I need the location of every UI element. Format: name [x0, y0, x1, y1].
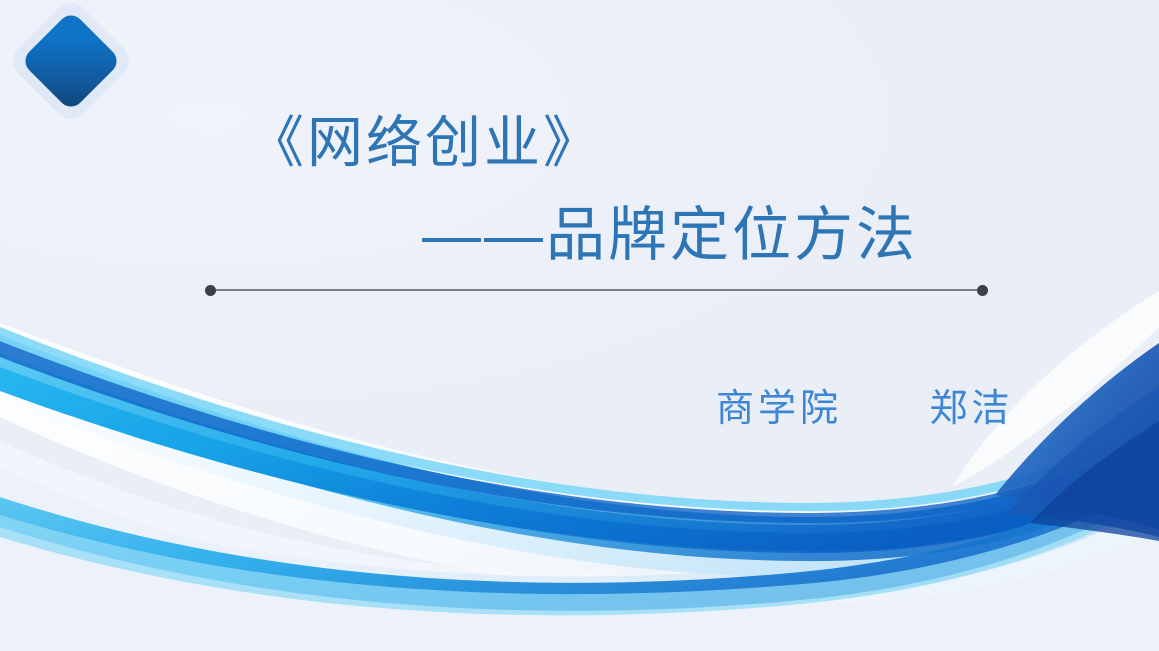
- divider-dot-left: [205, 285, 216, 296]
- page-title: 《网络创业》: [248, 108, 602, 178]
- divider-dot-right: [977, 285, 988, 296]
- diamond-shape: [20, 10, 122, 112]
- presenter-line: 商学院 郑洁: [716, 385, 1013, 433]
- presentation-slide: 《网络创业》 ——品牌定位方法 商学院 郑洁: [0, 0, 1159, 651]
- slide-background: [0, 0, 1159, 651]
- divider: [210, 289, 983, 292]
- diamond-icon: [29, 19, 113, 103]
- page-subtitle: ——品牌定位方法: [422, 198, 918, 272]
- divider-line: [210, 289, 983, 291]
